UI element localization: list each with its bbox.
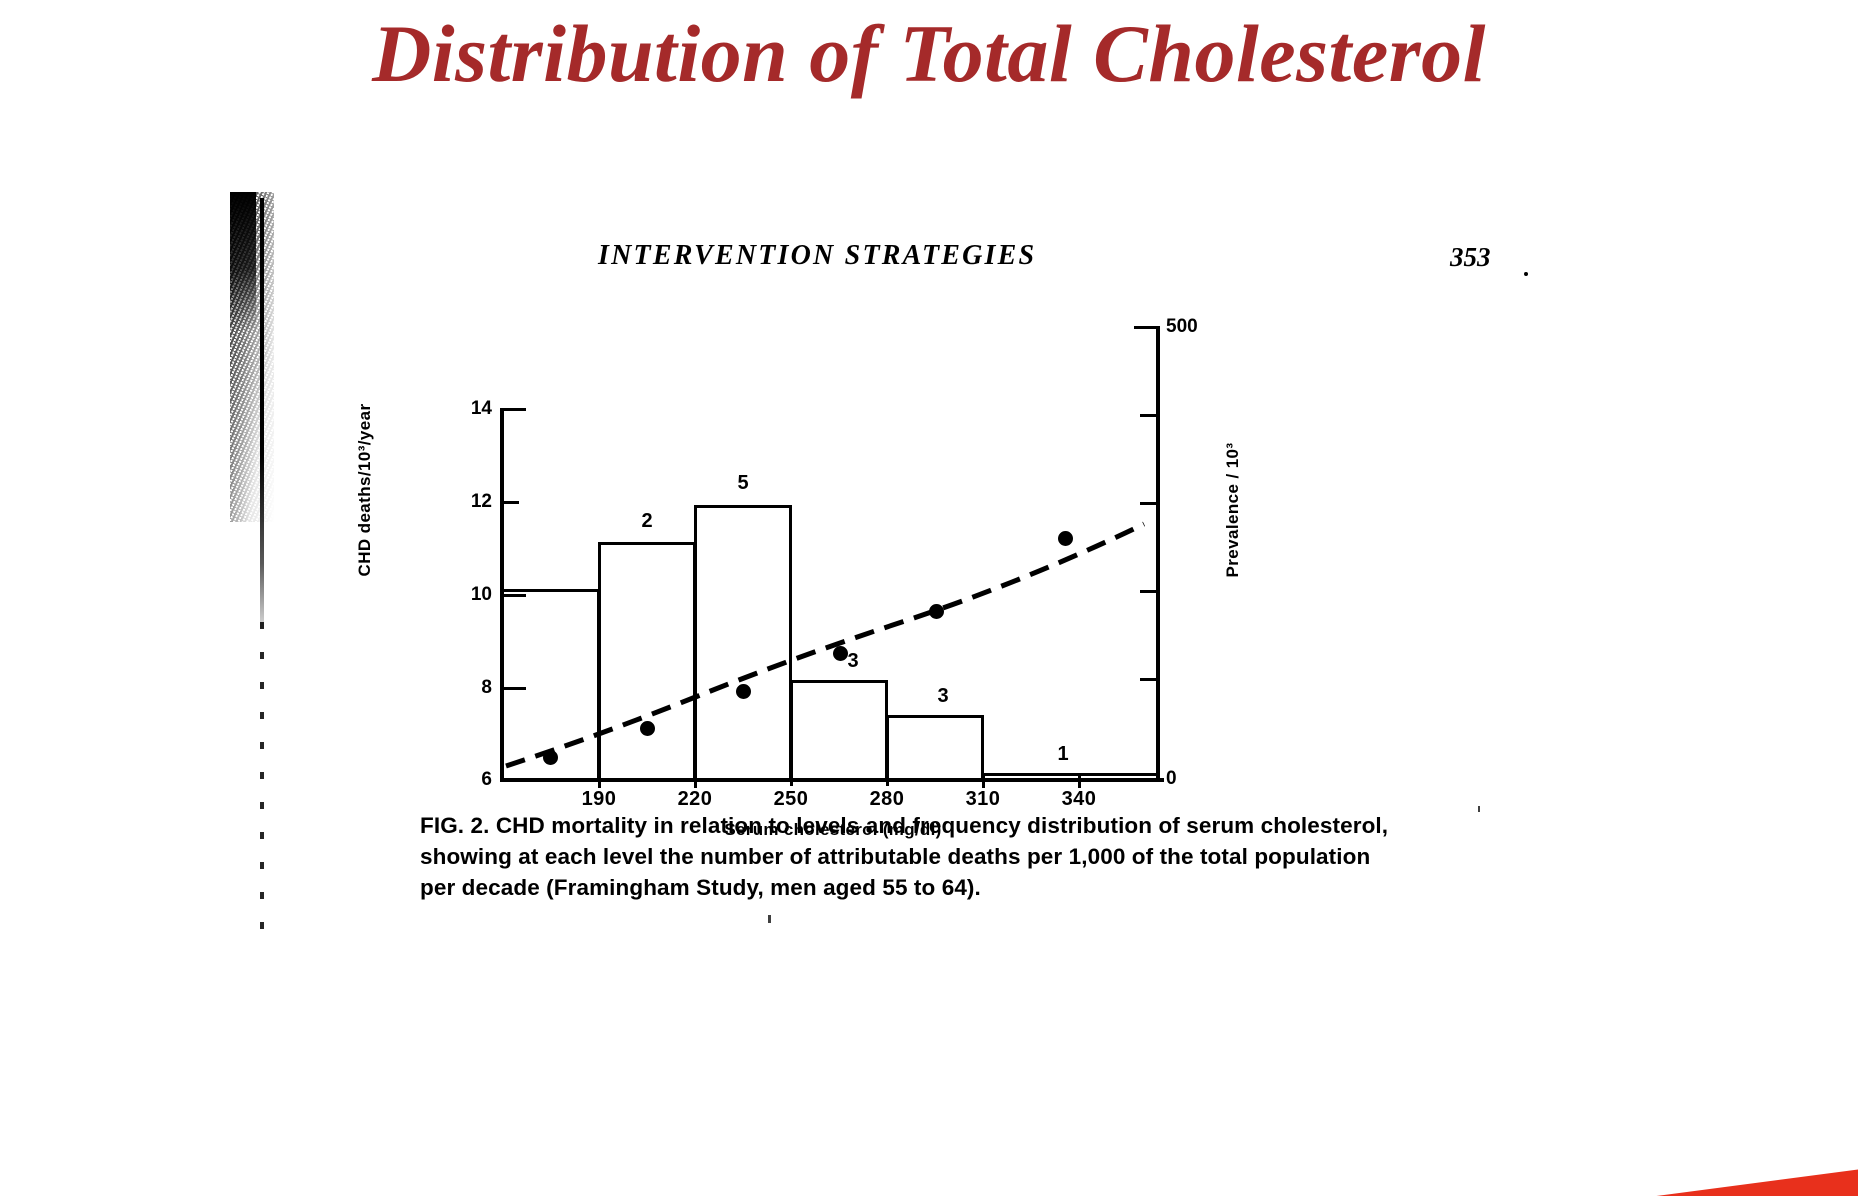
data-point bbox=[929, 604, 944, 619]
scan-spine-dots bbox=[260, 622, 264, 952]
scan-spine-line bbox=[260, 198, 264, 628]
data-point bbox=[543, 750, 558, 765]
corner-swoosh-decoration bbox=[1558, 1126, 1858, 1196]
scanned-figure: INTERVENTION STRATEGIES 353 14 12 10 8 6… bbox=[268, 180, 1688, 980]
prevalence-curve-line bbox=[506, 524, 1144, 766]
caption-line-3: per decade (Framingham Study, men aged 5… bbox=[420, 872, 1550, 903]
caption-line-1: FIG. 2. CHD mortality in relation to lev… bbox=[420, 810, 1550, 841]
swoosh-shadow bbox=[1558, 1184, 1858, 1196]
scan-dark-edge bbox=[230, 192, 256, 332]
swoosh-accent bbox=[1558, 1166, 1858, 1196]
figure-caption: FIG. 2. CHD mortality in relation to lev… bbox=[420, 810, 1550, 903]
data-point bbox=[736, 684, 751, 699]
scan-speck bbox=[768, 915, 771, 923]
page-title: Distribution of Total Cholesterol bbox=[0, 6, 1858, 102]
data-point bbox=[1058, 531, 1073, 546]
data-point bbox=[640, 721, 655, 736]
data-point bbox=[833, 646, 848, 661]
scan-speck bbox=[1478, 806, 1480, 812]
caption-line-2: showing at each level the number of attr… bbox=[420, 841, 1550, 872]
